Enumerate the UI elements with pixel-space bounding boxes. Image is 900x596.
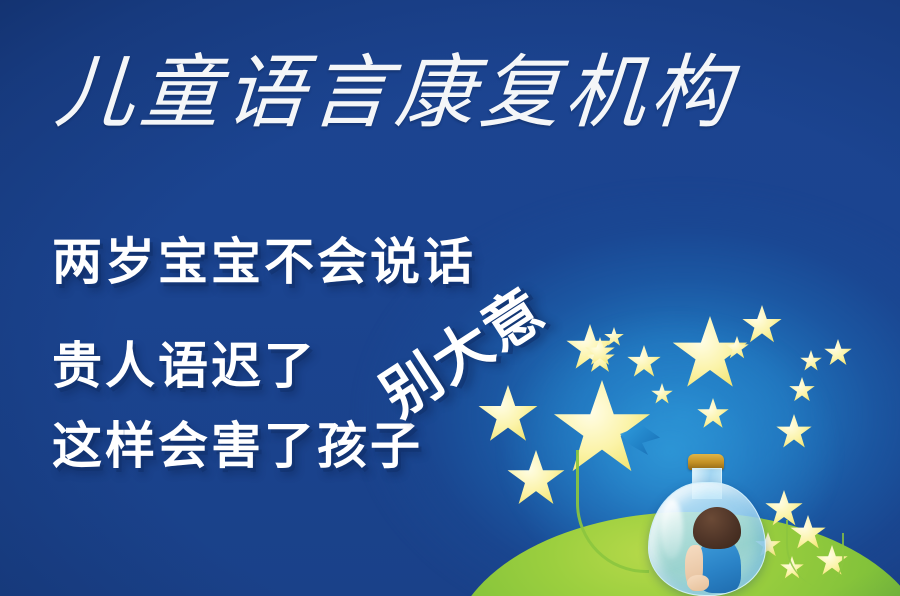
subheading-line-3: 这样会害了孩子 — [52, 406, 423, 478]
child-figure — [675, 507, 749, 595]
subheading-line-1: 两岁宝宝不会说话 — [52, 222, 476, 294]
bottle-with-child — [648, 452, 764, 596]
poster-canvas: 儿童语言康复机构 两岁宝宝不会说话 贵人语迟了 这样会害了孩子 别大意 — [0, 0, 900, 596]
page-title: 儿童语言康复机构 — [52, 52, 738, 136]
bottle-body — [648, 482, 766, 596]
child-hair — [693, 507, 741, 549]
subheading-line-2: 贵人语迟了 — [52, 326, 317, 398]
child-foot — [687, 575, 709, 591]
